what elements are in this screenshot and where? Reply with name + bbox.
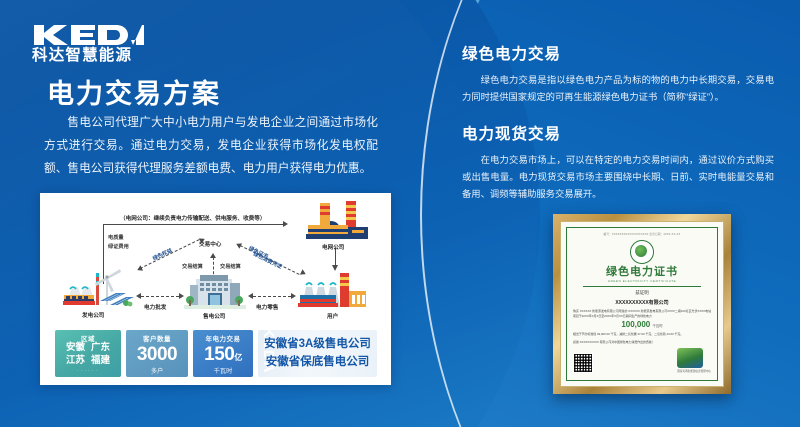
certificate-stamp-caption: 国家可再生能源信息管理中心 (677, 369, 711, 373)
stat-sub: 多户 (151, 366, 163, 375)
diagram-label-settle-right: 交易结算 (220, 263, 241, 270)
certificate-border: 编号：XXXXXXXXXXXXXXXXXXX 出具日期：20XX-XX-XX 绿… (566, 227, 718, 381)
keda-logo-icon (32, 24, 144, 46)
diagram-label-energy: 电质量 (108, 234, 124, 241)
diagram-line (141, 296, 179, 297)
section-heading-green-trade: 绿色电力交易 (462, 42, 561, 64)
certificate-org: XXXXXXXXXX有限公司 (573, 299, 711, 306)
brand-logo: 科达智慧能源 (32, 24, 144, 64)
diagram-label-retail: 电力零售 (256, 303, 278, 311)
certificate-frame: 编号：XXXXXXXXXXXXXXXXXXX 出具日期：20XX-XX-XX 绿… (553, 214, 731, 394)
qr-code-icon (573, 353, 593, 373)
diagram-line (103, 224, 285, 225)
diagram-label-wholesale: 电力批发 (144, 303, 166, 311)
section-body-spot-trade: 在电力交易市场上，可以在特定的电力交易时间内，通过议价方式购买或出售电量。电力现… (462, 152, 774, 204)
diagram-node-user-label: 用户 (327, 312, 338, 320)
stat-value-wrap: 150亿 (204, 345, 242, 364)
stat-card-customers: 客户数量 3000 多户 (126, 330, 188, 377)
region-name: 安徽 (66, 343, 85, 354)
certificate-paper: 编号：XXXXXXXXXXXXXXXXXXX 出具日期：20XX-XX-XX 绿… (560, 221, 724, 387)
section-heading-spot-trade: 电力现货交易 (462, 122, 561, 144)
badge-line-1: 安徽省3A级售电公司 (264, 336, 371, 353)
icon-generation-plant (62, 265, 134, 307)
content-card: （电网公司：继续负责电力传输配送、供电服务、收费等） 电质量 绿证费用 交易中心… (40, 193, 391, 385)
brand-logo-cn: 科达智慧能源 (32, 47, 144, 64)
certificate-stamp-icon (677, 348, 703, 368)
certificate-stamp-wrap: 国家可再生能源信息管理中心 (677, 348, 711, 373)
stat-caption: 区域 (81, 333, 95, 343)
stat-value: 150 (204, 344, 234, 365)
section-body-green-trade: 绿色电力交易是指以绿色电力产品为标的物的电力中长期交易，交易电力同时提供国家规定… (462, 72, 774, 106)
certificate-header-micro: 编号：XXXXXXXXXXXXXXXXXXX 出具日期：20XX-XX-XX (573, 232, 711, 236)
diagram-arrowhead (210, 253, 216, 258)
diagram-arrowhead (283, 221, 288, 227)
diagram-line (253, 296, 291, 297)
diagram-arrowhead (248, 293, 253, 299)
certificate-amount-wrap: 100,000 千瓦时 (573, 320, 711, 329)
diagram-top-note: （电网公司：继续负责电力传输配送、供电服务、收费等） (120, 214, 265, 222)
region-name: 广东 (91, 343, 110, 354)
certificate-body-3: 感谢 XXXXXXXXXX 有限公司对中国绿色电力消费作出的贡献！ (573, 340, 711, 345)
slide-canvas: 科达智慧能源 电力交易方案 售电公司代理广大中小电力用户与发电企业之间通过市场化… (0, 0, 800, 427)
stat-caption: 年电力交易 (206, 333, 241, 343)
diagram-arrowhead (136, 293, 141, 299)
badge-panel: KEDA 安徽省3A级售电公司 安徽省保底售电公司 (258, 330, 377, 377)
stat-card-annual-volume: 年电力交易 150亿 千瓦时 (193, 330, 253, 377)
region-grid: 安徽 广东 江苏 福建 (66, 343, 110, 367)
certificate-footer: 国家可再生能源信息管理中心 (573, 348, 711, 373)
stat-caption: 客户数量 (143, 333, 171, 343)
certificate-subtitle: GREEN ELECTRICITY CERTIFICATE (573, 279, 711, 283)
certificate-title: 绿色电力证书 (573, 266, 711, 278)
stat-sub: 千瓦时 (214, 366, 233, 375)
stat-card-region: 区域 安徽 广东 江苏 福建 ······ (55, 330, 121, 377)
certificate-seal-icon (630, 240, 654, 264)
icon-retail-company (184, 271, 246, 309)
certificate-body-2: 相当于节约标准煤 49,000.00 千克，减排二氧化碳 47.00 千克，二氧… (573, 332, 711, 337)
region-name: 福建 (91, 356, 110, 367)
diagram-arrowhead (235, 241, 242, 249)
intro-paragraph: 售电公司代理广大中小电力用户与发电企业之间通过市场化方式进行交易。通过电力交易，… (44, 112, 378, 180)
diagram-node-grid-label: 电网公司 (322, 243, 344, 251)
region-name: 江苏 (66, 356, 85, 367)
diagram-label-settle-left: 交易结算 (182, 263, 203, 270)
region-row: 江苏 福建 (66, 356, 110, 367)
green-certificate-photo: 编号：XXXXXXXXXXXXXXXXXXX 出具日期：20XX-XX-XX 绿… (553, 214, 731, 394)
certificate-kind: 兹证明 (573, 290, 711, 296)
transaction-flow-diagram: （电网公司：继续负责电力传输配送、供电服务、收费等） 电质量 绿证费用 交易中心… (40, 193, 391, 325)
certificate-divider (583, 286, 701, 287)
diagram-node-retail-label: 售电公司 (203, 312, 225, 320)
diagram-label-green-rights: 绿色权益 (152, 247, 174, 262)
badge-line-2: 安徽省保底售电公司 (264, 354, 371, 371)
page-title: 电力交易方案 (47, 72, 221, 111)
stat-unit: 亿 (234, 353, 242, 362)
badge-lines: 安徽省3A级售电公司 安徽省保底售电公司 (264, 336, 371, 371)
certificate-body: 购买 XXXXXX 新能源发电有限公司所属的 XXXXXX 新能源发电有限公司X… (573, 309, 711, 318)
diagram-node-generation-label: 发电公司 (82, 311, 104, 319)
stats-row: 区域 安徽 广东 江苏 福建 ······ 客户数量 3000 多户 (55, 330, 377, 377)
stat-value: 3000 (137, 345, 177, 364)
icon-user-factory (296, 269, 368, 309)
icon-grid-company (302, 201, 370, 241)
certificate-amount-unit: 千瓦时 (652, 324, 662, 328)
certificate-amount: 100,000 (621, 320, 650, 329)
diagram-label-cert-fee: 绿证费用 (108, 243, 129, 250)
region-row: 安徽 广东 (66, 343, 110, 354)
region-more-dots: ······ (77, 368, 99, 374)
